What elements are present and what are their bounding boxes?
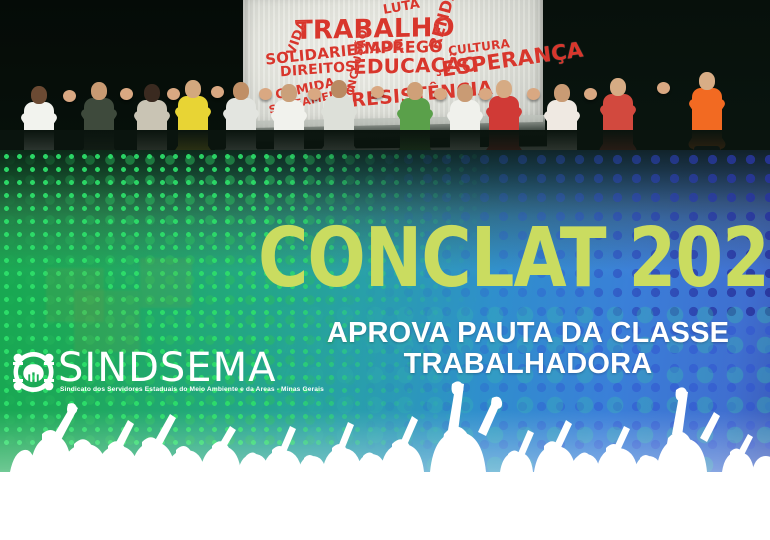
poster-subtitle-line-2: TRABALHADORA xyxy=(303,349,753,380)
poster-headline: CONCLAT 2022 xyxy=(258,225,770,292)
tree-in-circle-with-figures-icon xyxy=(8,350,60,394)
decorative-patch xyxy=(140,258,192,308)
poster-image: LUTATRABALHORENDAVIDASOLIDARIEDADEEMPREG… xyxy=(0,0,770,540)
poster-subtitle-line-1: APROVA PAUTA DA CLASSE xyxy=(303,318,753,349)
poster-subtitle: APROVA PAUTA DA CLASSE TRABALHADORA xyxy=(303,318,753,379)
sindsema-tagline: Sindicato dos Servidores Estaduais do Me… xyxy=(60,386,296,393)
sindsema-wordmark: SINDSEMA xyxy=(58,348,276,388)
decorative-patch xyxy=(74,290,140,352)
sindsema-logo: SINDSEMA Sindicato dos Servidores Estadu… xyxy=(8,348,298,406)
